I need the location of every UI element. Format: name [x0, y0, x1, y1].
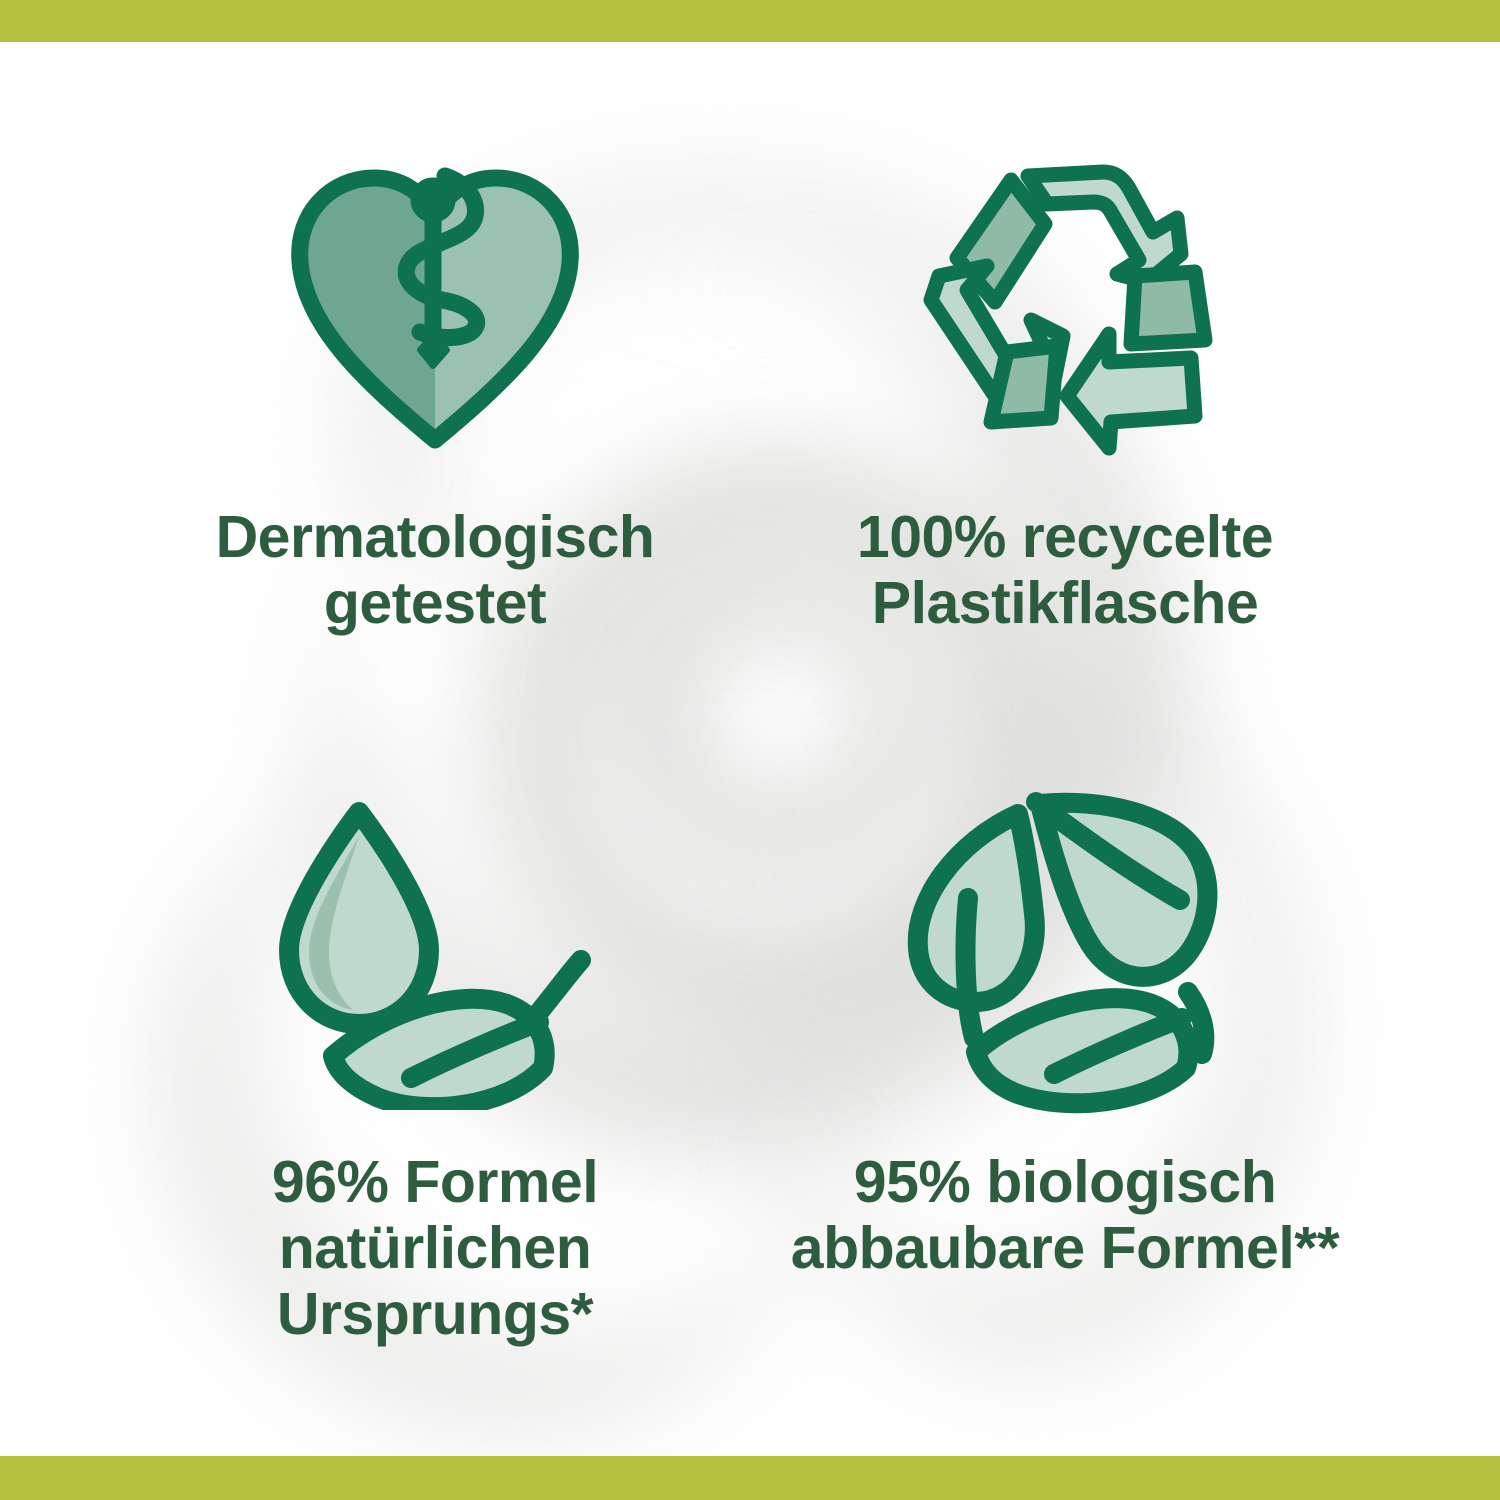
heart-caduceus-icon — [270, 120, 600, 490]
feature-formel-natuerlichen-ursprungs: 96% Formel natürlichen Ursprungs* — [120, 765, 750, 1410]
feature-biologisch-abbaubare-formel: 95% biologisch abbaubare Formel** — [750, 765, 1380, 1410]
feature-caption: 100% recycelte Plastikflasche — [800, 504, 1330, 636]
feature-caption: 96% Formel natürlichen Ursprungs* — [225, 1149, 645, 1347]
footnotes-column: *Wasser und natürlich gewonnene Inhaltss… — [1390, 42, 1500, 1456]
three-leaves-cycle-icon — [890, 765, 1240, 1135]
water-drop-leaf-icon — [255, 765, 615, 1135]
top-brand-bar — [0, 0, 1500, 42]
feature-grid: Dermatologisch getestet — [120, 120, 1380, 1410]
feature-caption: Dermatologisch getestet — [155, 504, 715, 636]
product-benefits-infographic: Dermatologisch getestet — [0, 0, 1500, 1500]
recycling-icon — [895, 120, 1235, 490]
feature-caption: 95% biologisch abbaubare Formel** — [765, 1149, 1365, 1281]
feature-dermatologisch-getestet: Dermatologisch getestet — [120, 120, 750, 765]
bottom-brand-bar — [0, 1456, 1500, 1500]
feature-recycelte-plastikflasche: 100% recycelte Plastikflasche — [750, 120, 1380, 765]
